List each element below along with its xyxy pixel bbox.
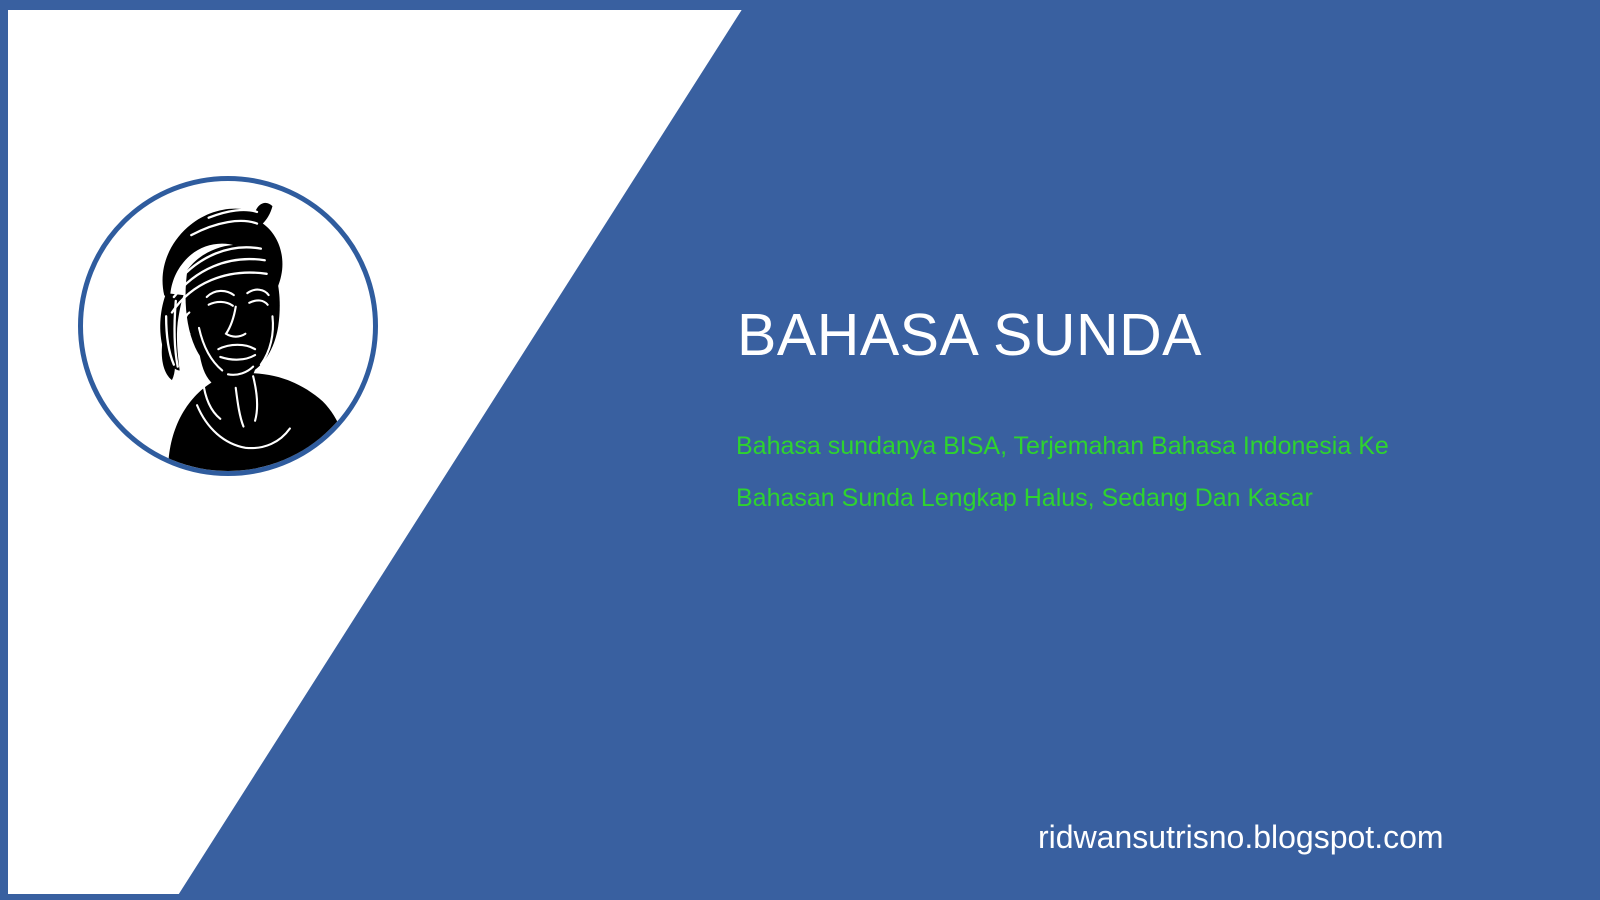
- subtitle-line-1: Bahasa sundanya BISA, Terjemahan Bahasa …: [736, 420, 1336, 472]
- subtitle-line-2: Bahasan Sunda Lengkap Halus, Sedang Dan …: [736, 472, 1336, 524]
- border-frame-left: [0, 0, 8, 900]
- site-url-watermark: ridwansutrisno.blogspot.com: [1038, 818, 1444, 856]
- page-title: BAHASA SUNDA: [737, 306, 1202, 365]
- banner-canvas: BAHASA SUNDA Bahasa sundanya BISA, Terje…: [0, 0, 1600, 900]
- logo-circle-ring: [78, 176, 378, 476]
- sundanese-man-portrait-icon: [83, 181, 373, 471]
- border-frame-top: [0, 0, 1600, 10]
- logo: [78, 176, 378, 476]
- subtitle-block: Bahasa sundanya BISA, Terjemahan Bahasa …: [736, 420, 1336, 524]
- border-frame-bottom: [0, 894, 1600, 900]
